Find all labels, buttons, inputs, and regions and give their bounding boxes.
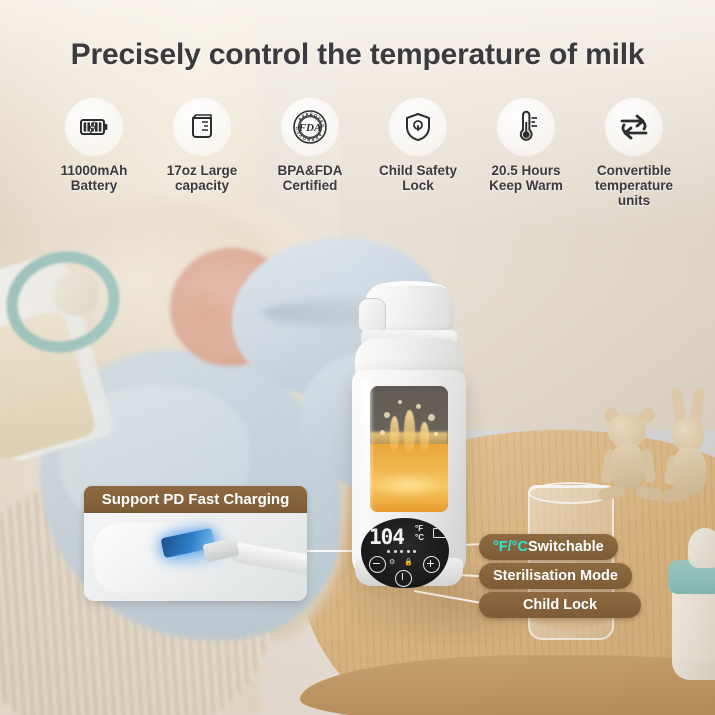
bubble xyxy=(384,412,390,418)
bottle-view-window xyxy=(370,386,448,512)
plus-button[interactable] xyxy=(423,556,440,573)
callout-unit-prefix: °F/°C xyxy=(493,539,528,555)
lock-icon[interactable]: 🔒 xyxy=(404,558,413,566)
feature-item-unit-conversion: Convertible temperature units xyxy=(584,98,684,208)
unit-celsius: °C xyxy=(415,533,424,542)
bubble xyxy=(434,432,438,436)
unit-fahrenheit: °F xyxy=(415,524,424,533)
callout-switchable-label: Switchable xyxy=(528,539,604,555)
feature-label: 17oz Large capacity xyxy=(167,163,238,193)
fda-approved-seal-icon: FDA APPROVED APPROVED xyxy=(281,98,339,156)
liquid-splash-1 xyxy=(390,416,399,452)
callout-child-lock-label: Child Lock xyxy=(523,597,597,613)
liquid-glow xyxy=(374,472,444,498)
battery-charging-icon xyxy=(65,98,123,156)
led-control-display[interactable]: 104 °F °C ⚙ 🔒 xyxy=(361,518,449,588)
sterilise-icon[interactable]: ⚙ xyxy=(389,558,395,566)
feature-item-capacity: 17oz Large capacity xyxy=(152,98,252,193)
feature-label: Convertible temperature units xyxy=(595,163,673,208)
battery-icon xyxy=(433,528,446,538)
feature-label: 20.5 Hours Keep Warm xyxy=(489,163,563,193)
thermometer-icon xyxy=(497,98,555,156)
feature-label: Child Safety Lock xyxy=(379,163,457,193)
pd-charging-banner: Support PD Fast Charging xyxy=(84,486,307,513)
feature-list: 11000mAh Battery 17oz Large capacity xyxy=(44,98,684,208)
feature-item-battery: 11000mAh Battery xyxy=(44,98,144,193)
svg-text:FDA: FDA xyxy=(298,122,322,134)
temperature-units: °F °C xyxy=(415,524,424,542)
bubble xyxy=(380,430,385,435)
shield-lock-icon xyxy=(389,98,447,156)
convertible-arrows-icon xyxy=(605,98,663,156)
bubble xyxy=(428,414,435,421)
callout-sterilisation-label: Sterilisation Mode xyxy=(493,568,618,584)
product-bottle: 104 °F °C ⚙ 🔒 xyxy=(347,286,469,596)
temperature-readout: 104 xyxy=(369,525,404,549)
minus-button[interactable] xyxy=(369,556,386,573)
page-title: Precisely control the temperature of mil… xyxy=(0,38,715,72)
product-marketing-image: Precisely control the temperature of mil… xyxy=(0,0,715,715)
bubble xyxy=(416,404,421,409)
usb-cable xyxy=(228,541,307,576)
power-button[interactable] xyxy=(395,570,412,587)
feature-item-keep-warm: 20.5 Hours Keep Warm xyxy=(476,98,576,193)
feature-label: BPA&FDA Certified xyxy=(278,163,343,193)
measuring-beaker-icon xyxy=(173,98,231,156)
liquid-splash-2 xyxy=(404,410,415,454)
status-dots xyxy=(387,550,416,553)
callout-switchable: °F/°C Switchable xyxy=(479,534,618,560)
bubble xyxy=(398,400,402,404)
feature-label: 11000mAh Battery xyxy=(61,163,128,193)
feature-item-child-lock: Child Safety Lock xyxy=(368,98,468,193)
liquid-splash-3 xyxy=(420,422,429,452)
feature-item-certification: FDA APPROVED APPROVED BPA&FDA Certified xyxy=(260,98,360,193)
pd-charging-panel xyxy=(84,513,307,601)
bottle-latch-button[interactable] xyxy=(358,298,386,334)
callout-sterilisation: Sterilisation Mode xyxy=(479,563,632,589)
callout-child-lock: Child Lock xyxy=(479,592,641,618)
